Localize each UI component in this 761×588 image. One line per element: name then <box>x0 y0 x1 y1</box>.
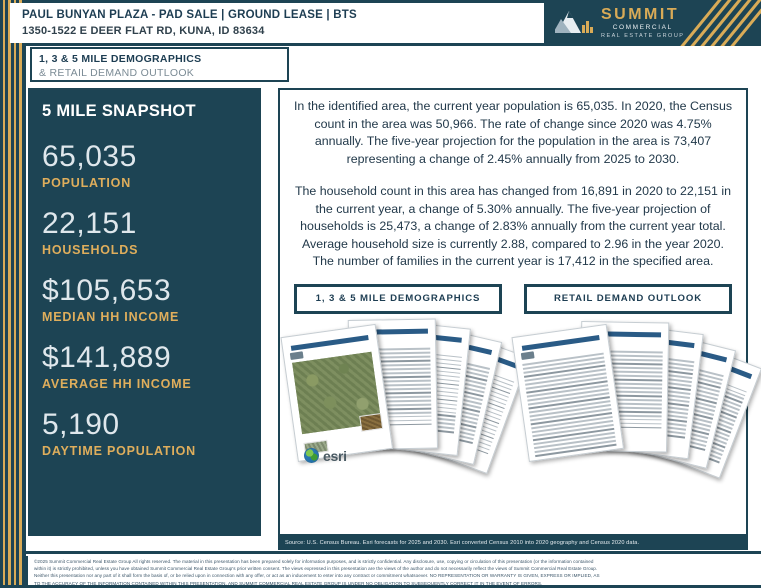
summit-logo: SUMMIT COMMERCIAL REAL ESTATE GROUP <box>555 4 705 42</box>
narrative-paragraph-population: In the identified area, the current year… <box>293 98 733 168</box>
left-decorative-band <box>0 0 26 588</box>
retail-demand-report-thumbnail[interactable] <box>523 318 738 468</box>
stat-average-hh-income: $141,889 AVERAGE HH INCOME <box>42 341 261 392</box>
stat-value: 22,151 <box>42 207 261 241</box>
demographics-report-label: 1, 3 & 5 MILE DEMOGRAPHICS <box>297 287 499 311</box>
demographics-report-thumbnail[interactable]: esri <box>292 318 507 468</box>
property-title: PAUL BUNYAN PLAZA - PAD SALE | GROUND LE… <box>22 7 534 23</box>
narrative-text: In the identified area, the current year… <box>280 90 746 271</box>
retail-demand-report-button[interactable]: RETAIL DEMAND OUTLOOK <box>524 284 732 314</box>
logo-subline-commercial: COMMERCIAL <box>601 25 684 32</box>
property-address: 1350-1522 E DEER FLAT RD, KUNA, ID 83634 <box>22 23 534 39</box>
disclaimer-line-1: ©2025 Summit Commercial Real Estate Grou… <box>34 558 757 565</box>
retail-demand-report-label: RETAIL DEMAND OUTLOOK <box>527 287 729 311</box>
stat-value: $141,889 <box>42 341 261 375</box>
footer-divider <box>26 551 761 554</box>
stat-population: 65,035 POPULATION <box>42 140 261 191</box>
gold-stripe <box>14 0 16 588</box>
stat-daytime-population: 5,190 DAYTIME POPULATION <box>42 408 261 459</box>
stat-label: MEDIAN HH INCOME <box>42 309 261 325</box>
five-mile-snapshot-panel: 5 MILE SNAPSHOT 65,035 POPULATION 22,151… <box>28 88 261 536</box>
report-thumbnails-row: esri <box>280 314 746 474</box>
report-links-row: 1, 3 & 5 MILE DEMOGRAPHICS RETAIL DEMAND… <box>280 271 746 314</box>
globe-icon <box>304 448 319 463</box>
data-source-note: Source: U.S. Census Bureau. Esri forecas… <box>278 536 748 550</box>
gold-stripe <box>8 0 11 588</box>
stat-label: HOUSEHOLDS <box>42 242 261 258</box>
logo-subline-group: REAL ESTATE GROUP <box>601 34 684 40</box>
property-title-plate: PAUL BUNYAN PLAZA - PAD SALE | GROUND LE… <box>10 3 544 43</box>
section-title-secondary: & RETAIL DEMAND OUTLOOK <box>39 66 287 80</box>
report-map-sheet <box>280 323 393 461</box>
stat-label: POPULATION <box>42 175 261 191</box>
report-sheet <box>511 323 624 461</box>
section-title-primary: 1, 3 & 5 MILE DEMOGRAPHICS <box>39 52 287 66</box>
esri-logo: esri <box>304 448 347 464</box>
gold-stripe <box>19 0 22 588</box>
stat-value: $105,653 <box>42 274 261 308</box>
logo-wordmark: SUMMIT <box>601 7 684 23</box>
disclaimer-line-2: within it) is strictly prohibited, unles… <box>34 565 757 572</box>
stat-label: DAYTIME POPULATION <box>42 443 261 459</box>
mountain-peaks-icon <box>555 7 595 39</box>
stat-median-hh-income: $105,653 MEDIAN HH INCOME <box>42 274 261 325</box>
snapshot-heading: 5 MILE SNAPSHOT <box>42 102 261 121</box>
esri-wordmark: esri <box>323 448 347 464</box>
narrative-panel: In the identified area, the current year… <box>278 88 748 536</box>
stat-value: 5,190 <box>42 408 261 442</box>
stat-value: 65,035 <box>42 140 261 174</box>
footer-disclaimer: ©2025 Summit Commercial Real Estate Grou… <box>26 556 761 588</box>
narrative-paragraph-households: The household count in this area has cha… <box>293 183 733 271</box>
demographics-report-button[interactable]: 1, 3 & 5 MILE DEMOGRAPHICS <box>294 284 502 314</box>
disclaimer-line-3: Neither this presentation nor any part o… <box>34 572 757 579</box>
map-inset-aerial <box>359 412 384 431</box>
stat-label: AVERAGE HH INCOME <box>42 376 261 392</box>
stat-households: 22,151 HOUSEHOLDS <box>42 207 261 258</box>
presentation-slide: PAUL BUNYAN PLAZA - PAD SALE | GROUND LE… <box>0 0 761 588</box>
section-title-box: 1, 3 & 5 MILE DEMOGRAPHICS & RETAIL DEMA… <box>30 47 289 82</box>
gold-stripe <box>3 0 5 588</box>
